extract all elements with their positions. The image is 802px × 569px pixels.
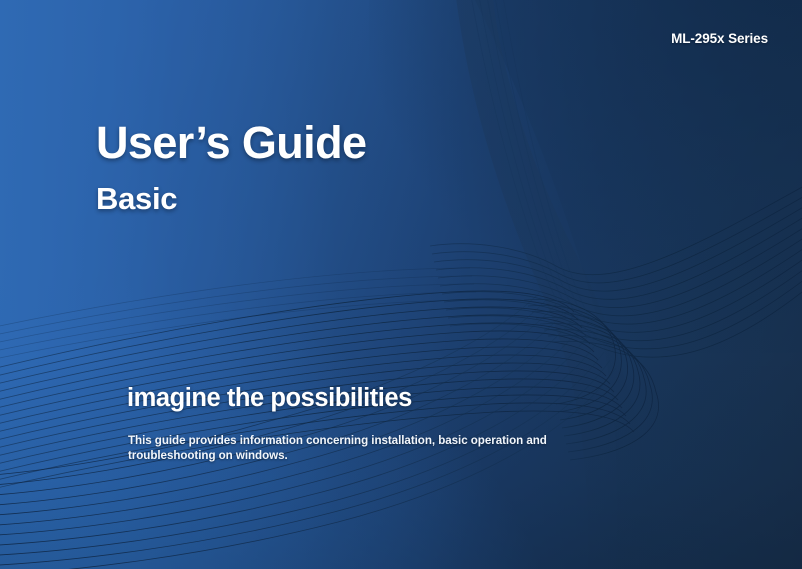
series-label: ML-295x Series xyxy=(671,31,768,46)
guide-description-line-2: troubleshooting on windows. xyxy=(128,448,608,463)
background-bottom-vignette xyxy=(0,0,802,569)
page-title: User’s Guide xyxy=(96,120,366,165)
brand-tagline: imagine the possibilities xyxy=(127,386,412,412)
page-subtitle: Basic xyxy=(96,183,177,214)
guide-description-line-1: This guide provides information concerni… xyxy=(128,433,608,448)
guide-description: This guide provides information concerni… xyxy=(128,433,608,463)
user-guide-cover: ML-295x Series User’s Guide Basic imagin… xyxy=(0,0,802,569)
